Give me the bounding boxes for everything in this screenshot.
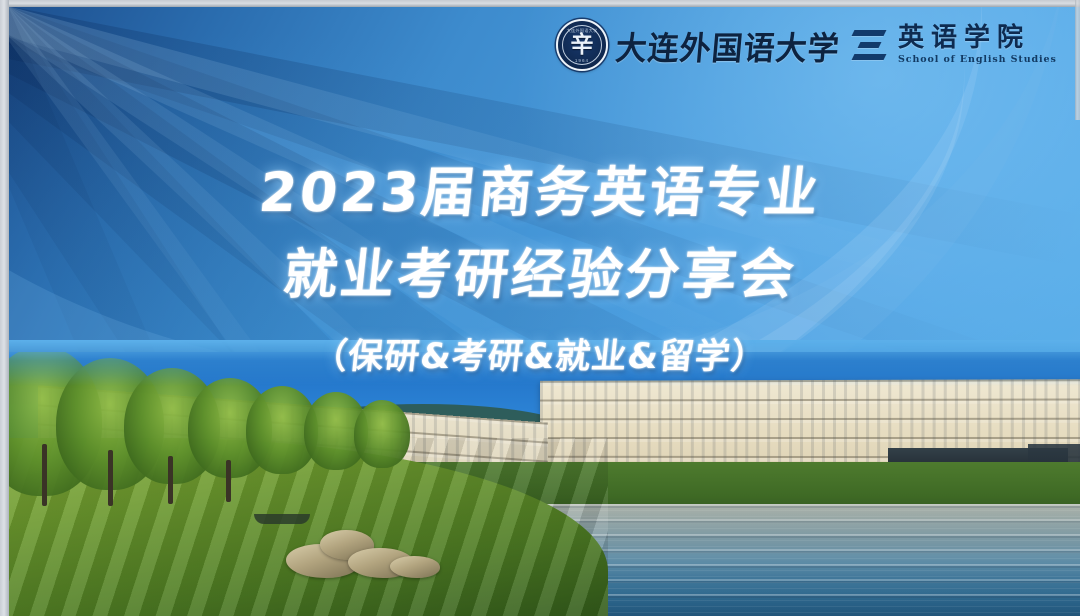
school-name-en: School of English Studies	[898, 55, 1057, 65]
school-name-cn: 英语学院	[898, 25, 1057, 51]
tree-trunk	[168, 456, 173, 504]
seal-glyph: 辛	[571, 34, 594, 57]
frame-edge-left	[0, 0, 9, 616]
willow-tree	[354, 400, 410, 468]
campus-photo	[8, 352, 1080, 616]
shore-rocks	[286, 530, 446, 586]
rock	[390, 556, 440, 578]
small-boat	[254, 514, 310, 524]
brand-header: 大连外国语大学 辛 1964 大连外国语大学 英语学院 School of En…	[556, 14, 1070, 76]
e-mark-icon	[853, 29, 887, 61]
university-seal-icon: 大连外国语大学 辛 1964	[556, 19, 608, 71]
frame-edge-top	[0, 0, 1080, 7]
tree-trunk	[108, 450, 113, 506]
frame-edge-right	[1075, 0, 1080, 120]
seal-arc-bottom-text: 1964	[558, 58, 606, 63]
tree-trunk	[42, 444, 47, 506]
poster-slide: 大连外国语大学 辛 1964 大连外国语大学 英语学院 School of En…	[0, 0, 1080, 616]
university-name: 大连外国语大学	[614, 22, 842, 69]
tree-trunk	[226, 460, 231, 502]
school-name-block: 英语学院 School of English Studies	[898, 25, 1057, 65]
